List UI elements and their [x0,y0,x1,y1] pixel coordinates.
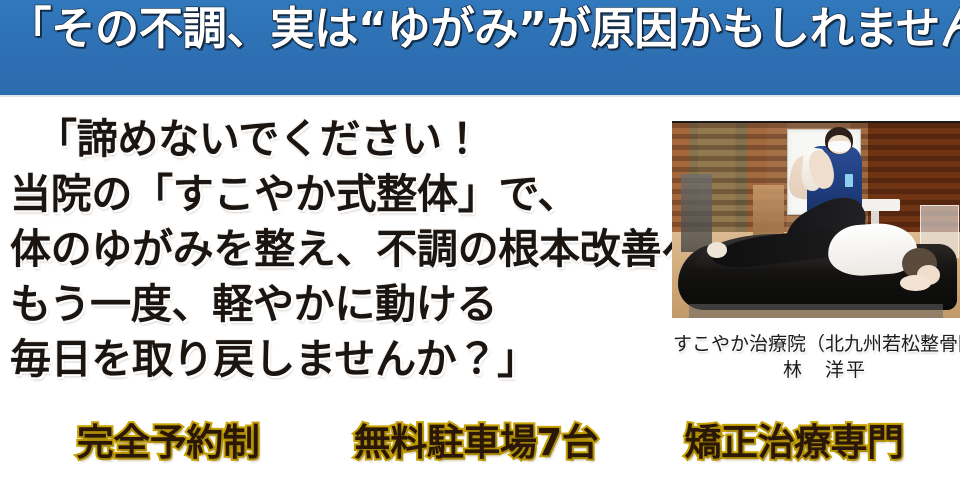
photo-cabinet [681,174,713,252]
photo-therapist-mask [828,141,851,153]
highlight-reservation-only: 完全予約制 [8,418,328,468]
photo-caption-clinic-name: すこやか治療院（北九州若松整骨院 [660,331,960,357]
photo-caption-person-name: 林 洋平 [660,357,960,383]
main-message-line-1: 「諦めないでください！ [10,112,700,167]
photo-treatment-table-base [689,304,942,318]
photo-patient-foot [707,242,727,258]
photo-patient-arm [900,275,932,291]
slide-canvas: 「その不調、実は“ゆがみ”が原因かもしれません」 「諦めないでください！ 当院の… [0,0,960,480]
header-banner: 「その不調、実は“ゆがみ”が原因かもしれません」 [0,0,960,97]
bottom-highlight-strip: 完全予約制 無料駐車場7台 矯正治療専門 [0,405,960,480]
clinic-photo-scene [672,123,960,318]
highlight-correction-specialist: 矯正治療専門 [634,418,954,468]
highlight-free-parking: 無料駐車場7台 [316,418,636,468]
main-message-line-3: 体のゆがみを整え、不調の根本改善へ。 [10,222,700,277]
photo-caption: すこやか治療院（北九州若松整骨院 林 洋平 [660,331,960,383]
main-message-line-2: 当院の「すこやか式整体」で、 [10,167,700,222]
header-title: 「その不調、実は“ゆがみ”が原因かもしれません」 [7,1,953,57]
photo-shelf [753,185,785,236]
main-message-line-4: もう一度、軽やかに動ける [10,277,700,332]
clinic-photo [672,121,960,318]
main-message-line-5: 毎日を取り戻しませんか？」 [10,332,700,387]
main-message-block: 「諦めないでください！ 当院の「すこやか式整体」で、 体のゆがみを整え、不調の根… [10,112,700,387]
photo-therapist-badge [845,174,854,188]
